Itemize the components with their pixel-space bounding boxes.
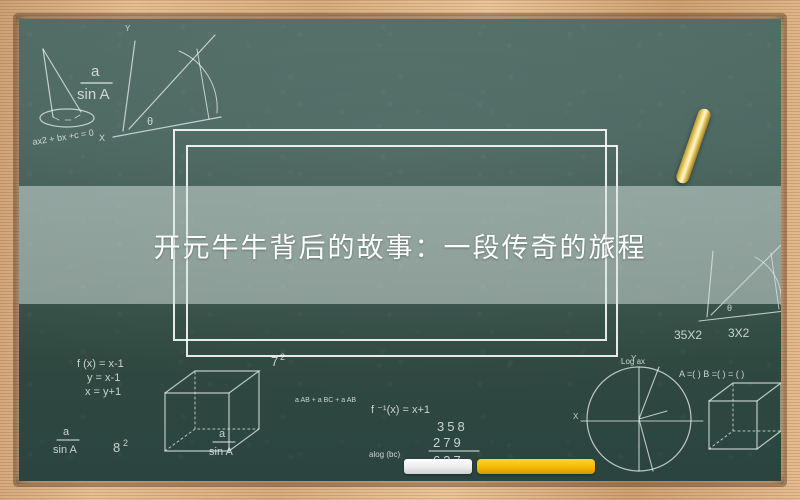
chalk-fn-line3: x = y+1 [85, 386, 121, 398]
chalk-fn-line1: f (x) = x-1 [77, 358, 124, 370]
chalk-fraction-a-sinA-center: a sin A [209, 428, 235, 458]
chalk-fn-line2: y = x-1 [87, 372, 120, 384]
fraction-numerator-center: a [219, 428, 226, 440]
chalk-eight-base: 8 [113, 440, 120, 455]
chalk-log-label: Log ax [621, 357, 645, 366]
chalk-fraction-a-sinA-bottomleft: a sin A [53, 426, 79, 456]
page-title: 开元牛牛背后的故事：一段传奇的旅程 [154, 226, 647, 265]
angle-label-right: θ [727, 303, 732, 313]
chalk-cube-right [709, 383, 781, 449]
chalk-cone-drawing [40, 49, 94, 127]
chalk-circle-diagram: Y X [573, 354, 703, 471]
chalk-cube-center [165, 371, 259, 451]
chalk-multiply-a: 35X2 [674, 328, 702, 342]
fraction-numerator-topleft: a [91, 63, 100, 80]
fraction-denominator-center: sin A [209, 446, 234, 458]
angle-label-topleft: θ [147, 116, 153, 128]
title-band: 开元牛牛背后的故事：一段传奇的旅程 [19, 186, 781, 304]
fraction-denominator-topleft: sin A [77, 86, 110, 103]
chalk-side-note: a AB + a BC + a AB [295, 397, 356, 404]
chalk-alog-note: alog (bc) [369, 450, 400, 459]
chalk-fraction-a-sinA-topleft: a sin A [77, 63, 112, 103]
chalk-function-block: f (x) = x-1 y = x-1 x = y+1 [77, 358, 124, 398]
chalk-inverse-function: f ⁻¹(x) = x+1 [371, 404, 430, 416]
chalk-quadratic-equation: ax2 + bx +c = 0 [32, 127, 95, 147]
axis-label-y-topleft: Y [125, 24, 131, 33]
eraser-icon [404, 459, 472, 474]
axis-label-x-topleft: X [99, 133, 105, 143]
blackboard-surface: a sin A ax2 + bx +c = 0 Y X θ [19, 19, 781, 481]
chalk-matrix-note: A =( ) B =( ) = ( ) [679, 369, 744, 379]
addition-addend-bottom: 279 [433, 435, 464, 450]
circle-axis-label-y: Y [631, 354, 637, 363]
addition-addend-top: 358 [437, 419, 468, 434]
circle-axis-label-x: X [573, 412, 579, 421]
chalk-eight-exponent: 2 [123, 438, 128, 448]
chalk-tray-stick-icon [477, 459, 595, 474]
fraction-numerator-bottomleft: a [63, 426, 70, 438]
fraction-denominator-bottomleft: sin A [53, 444, 78, 456]
chalk-stick-icon [675, 107, 713, 185]
chalk-angle-axes-topleft: Y X θ [99, 24, 221, 143]
chalk-multiply-b: 3X2 [728, 326, 750, 340]
banner-image: a sin A ax2 + bx +c = 0 Y X θ [0, 0, 800, 500]
